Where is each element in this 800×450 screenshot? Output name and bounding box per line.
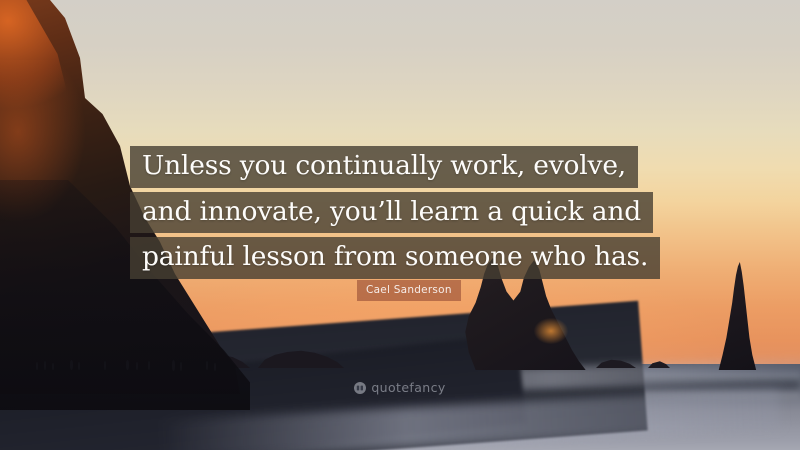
quote-author: Cael Sanderson (357, 280, 461, 301)
person-silhouette (44, 361, 46, 370)
person-silhouette (70, 360, 73, 370)
quote-wallpaper: Unless you continually work, evolve, and… (0, 0, 800, 450)
watermark-text: quotefancy (371, 382, 445, 395)
watermark: quotefancy (0, 382, 800, 395)
person-silhouette (78, 362, 80, 370)
person-silhouette (214, 363, 216, 371)
sea-stack-highlight (534, 318, 568, 344)
quote-line-1: Unless you continually work, evolve, (130, 146, 638, 188)
person-silhouette (136, 362, 138, 370)
quote-mark-icon (354, 382, 366, 394)
person-silhouette (126, 360, 129, 370)
person-silhouette (206, 361, 208, 370)
person-silhouette (172, 360, 175, 371)
quote-line-2: and innovate, you’ll learn a quick and (130, 192, 653, 234)
person-silhouette (148, 361, 150, 370)
quote-text-block: Unless you continually work, evolve, and… (130, 146, 660, 279)
person-silhouette (180, 362, 182, 371)
person-silhouette (36, 362, 38, 370)
quote-line-3: painful lesson from someone who has. (130, 237, 660, 279)
attribution-wrap: Cael Sanderson (357, 280, 461, 301)
person-silhouette (52, 363, 54, 370)
person-silhouette (104, 361, 106, 370)
